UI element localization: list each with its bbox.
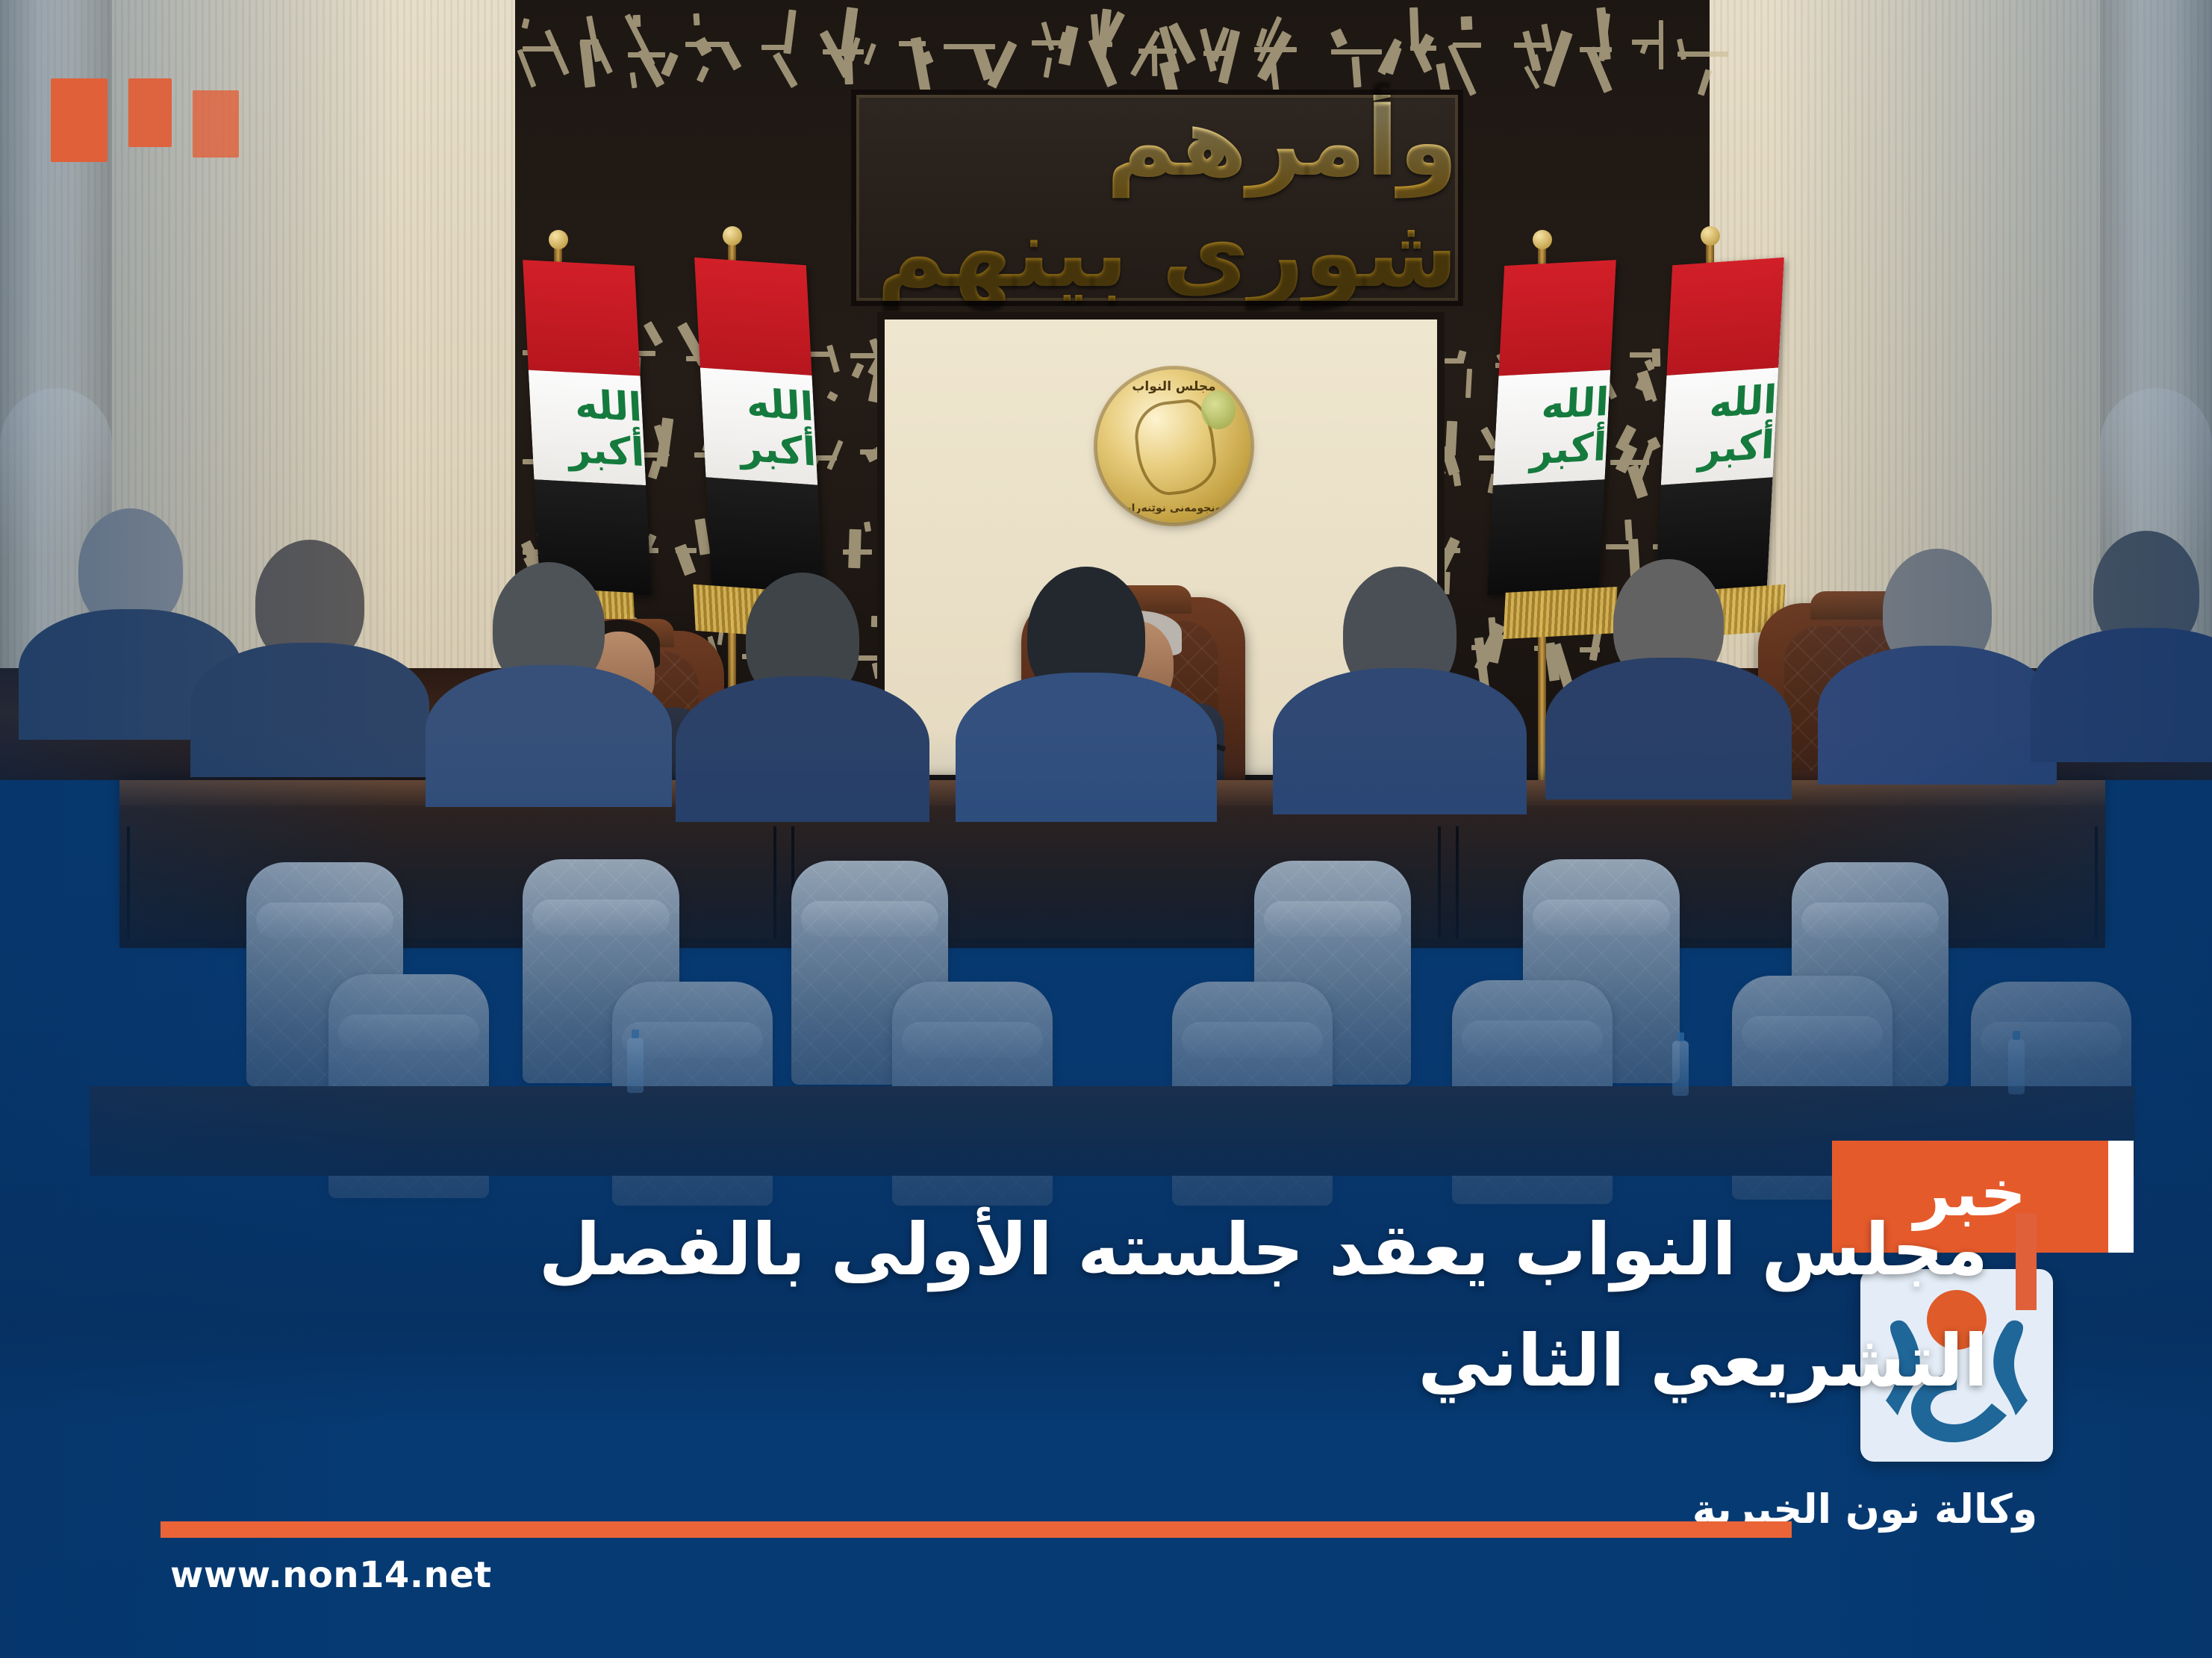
corner-mark-icon — [193, 90, 239, 158]
headline: مجلس النواب يعقد جلسته الأولى بالفصل الت… — [428, 1194, 1988, 1417]
headline-line-1: مجلس النواب يعقد جلسته الأولى بالفصل — [428, 1194, 1988, 1306]
logo-right-arm — [1993, 1321, 2028, 1415]
footer-rule — [161, 1521, 1792, 1538]
news-card: وأمرهم شورى بينهم مجلس النواب ئەنجومەنى … — [0, 0, 2212, 1658]
corner-mark-icon — [128, 78, 172, 147]
corner-mark-icon — [51, 78, 108, 162]
headline-accent-bar — [2016, 1213, 2037, 1310]
website-url: www.non14.net — [170, 1554, 492, 1596]
headline-line-2: التشريعي الثاني — [428, 1306, 1988, 1417]
news-tag-white-bar — [2108, 1141, 2134, 1253]
corner-marks — [51, 78, 239, 162]
